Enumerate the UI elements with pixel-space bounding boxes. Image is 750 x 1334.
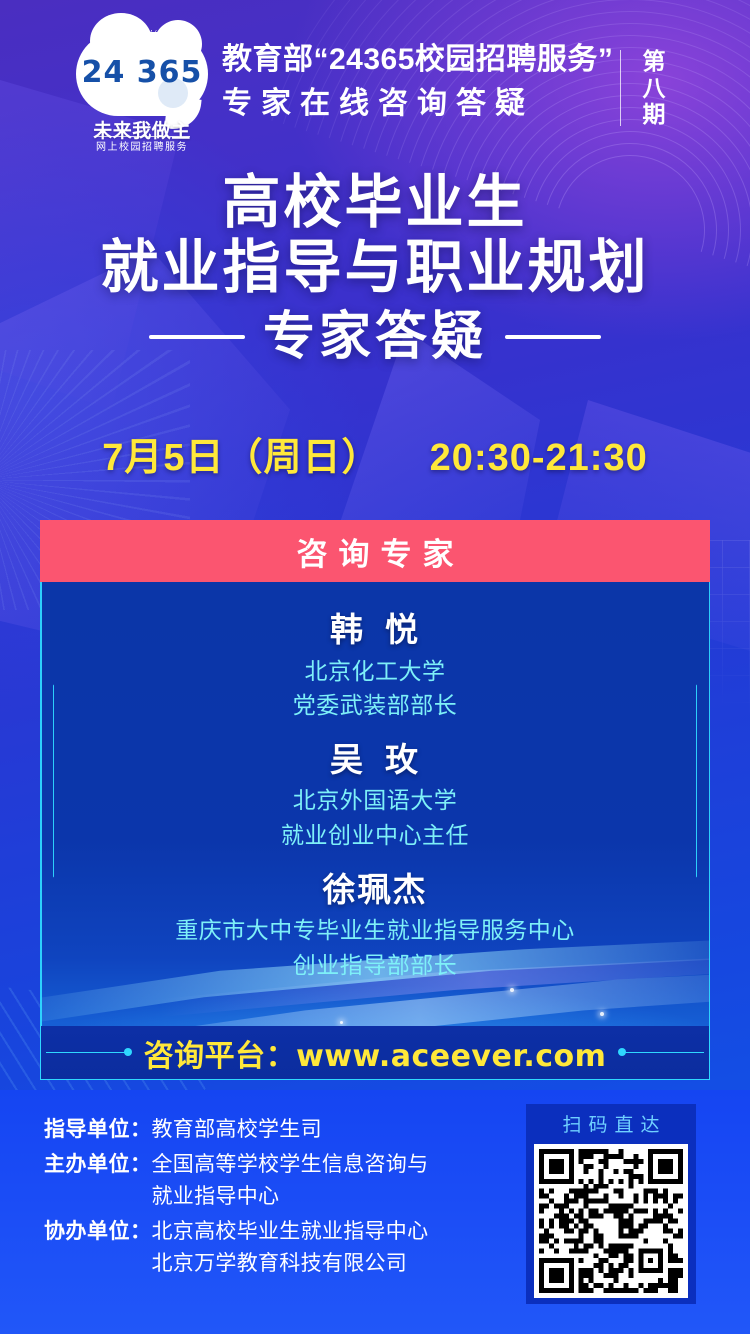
title-line-2: 就业指导与职业规划	[0, 233, 750, 301]
organizer-row: 协办单位： 北京高校毕业生就业指导中心 北京万学教育科技有限公司	[44, 1216, 484, 1280]
expert-givenname: 悦	[385, 610, 420, 649]
qr-code-label: 扫码直达	[534, 1112, 688, 1144]
platform-text[interactable]: 咨询平台：www.aceever.com	[144, 1031, 607, 1075]
sparkle-icon	[340, 1021, 343, 1024]
title-dash-right-icon	[505, 335, 601, 339]
schedule-date: 7月5日（周日）	[102, 437, 380, 479]
title-line-3: 专家答疑	[263, 308, 487, 365]
expert-org-line-1: 北京外国语大学	[40, 784, 710, 817]
organizer-list: 指导单位： 教育部高校学生司 主办单位： 全国高等学校学生信息咨询与 就业指导中…	[44, 1114, 484, 1283]
qr-code-image-frame	[534, 1144, 688, 1298]
platform-bar: 咨询平台：www.aceever.com	[40, 1026, 710, 1080]
expert-panel: 咨询专家 韩悦 北京化工大学 党委武装部部长 吴玫 北京外国语大学 就业	[40, 520, 710, 1076]
poster-footer: 指导单位： 教育部高校学生司 主办单位： 全国高等学校学生信息咨询与 就业指导中…	[0, 1090, 750, 1334]
expert-org-line-1: 北京化工大学	[40, 655, 710, 688]
expert-entry: 韩悦 北京化工大学 党委武装部部长	[40, 608, 710, 722]
organizer-key: 协办单位：	[44, 1216, 152, 1248]
header-issue-number: 第八期	[634, 48, 674, 128]
expert-org-line-2: 党委武装部部长	[40, 689, 710, 722]
expert-panel-header: 咨询专家	[40, 520, 710, 582]
organizer-value: 北京万学教育科技有限公司	[152, 1248, 485, 1280]
header-vertical-divider	[620, 50, 621, 126]
organizer-key: 指导单位：	[44, 1114, 152, 1146]
header-text-block: 教育部“24365校园招聘服务” 专家在线咨询答疑	[222, 44, 622, 119]
expert-name: 吴玫	[40, 738, 710, 783]
logo-24365: 24 365 未来我做主 网上校园招聘服务	[72, 28, 212, 146]
expert-surname: 韩	[330, 610, 365, 649]
poster-header: 24 365 未来我做主 网上校园招聘服务 教育部“24365校园招聘服务” 专…	[0, 0, 750, 160]
expert-org-line-1: 重庆市大中专毕业生就业指导服务中心	[40, 914, 710, 947]
logo-number: 24 365	[72, 58, 212, 88]
schedule-time: 20:30-21:30	[430, 437, 648, 479]
expert-name: 韩悦	[40, 608, 710, 653]
main-title: 高校毕业生 就业指导与职业规划 专家答疑	[0, 172, 750, 365]
organizer-key: 主办单位：	[44, 1149, 152, 1181]
organizer-values: 全国高等学校学生信息咨询与 就业指导中心	[152, 1149, 485, 1213]
poster-root: 24 365 未来我做主 网上校园招聘服务 教育部“24365校园招聘服务” 专…	[0, 0, 750, 1334]
expert-list: 韩悦 北京化工大学 党委武装部部长 吴玫 北京外国语大学 就业创业中心主任 徐珮…	[40, 582, 710, 998]
organizer-value: 就业指导中心	[152, 1181, 485, 1213]
sparkle-icon	[600, 1012, 604, 1016]
expert-panel-body: 韩悦 北京化工大学 党委武装部部长 吴玫 北京外国语大学 就业创业中心主任 徐珮…	[40, 582, 710, 1076]
platform-line-left-icon	[46, 1052, 130, 1054]
platform-url[interactable]: www.aceever.com	[296, 1039, 606, 1074]
sun-rays-icon	[102, 30, 182, 56]
expert-givenname: 玫	[385, 740, 420, 779]
expert-name: 徐珮杰	[40, 868, 710, 913]
qr-code-icon	[539, 1149, 683, 1293]
header-line-2: 专家在线咨询答疑	[222, 88, 622, 120]
organizer-values: 教育部高校学生司	[152, 1114, 485, 1146]
organizer-row: 指导单位： 教育部高校学生司	[44, 1114, 484, 1146]
platform-label: 咨询平台：	[144, 1039, 297, 1074]
expert-entry: 吴玫 北京外国语大学 就业创业中心主任	[40, 738, 710, 852]
expert-org-line-2: 就业创业中心主任	[40, 819, 710, 852]
title-line-1: 高校毕业生	[0, 172, 750, 233]
title-line-3-row: 专家答疑	[0, 308, 750, 365]
expert-entry: 徐珮杰 重庆市大中专毕业生就业指导服务中心 创业指导部部长	[40, 868, 710, 982]
platform-line-right-icon	[620, 1052, 704, 1054]
expert-surname: 吴	[330, 740, 365, 779]
organizer-value: 全国高等学校学生信息咨询与	[152, 1149, 485, 1181]
organizer-value: 教育部高校学生司	[152, 1114, 485, 1146]
organizer-values: 北京高校毕业生就业指导中心 北京万学教育科技有限公司	[152, 1216, 485, 1280]
organizer-row: 主办单位： 全国高等学校学生信息咨询与 就业指导中心	[44, 1149, 484, 1213]
header-line-1: 教育部“24365校园招聘服务”	[222, 44, 622, 76]
logo-subtitle: 网上校园招聘服务	[72, 138, 212, 153]
expert-org-line-2: 创业指导部部长	[40, 949, 710, 982]
organizer-value: 北京高校毕业生就业指导中心	[152, 1216, 485, 1248]
title-dash-left-icon	[149, 335, 245, 339]
qr-code-box[interactable]: 扫码直达	[526, 1104, 696, 1304]
expert-panel-title: 咨询专家	[40, 520, 710, 582]
schedule-line: 7月5日（周日） 20:30-21:30	[0, 426, 750, 481]
